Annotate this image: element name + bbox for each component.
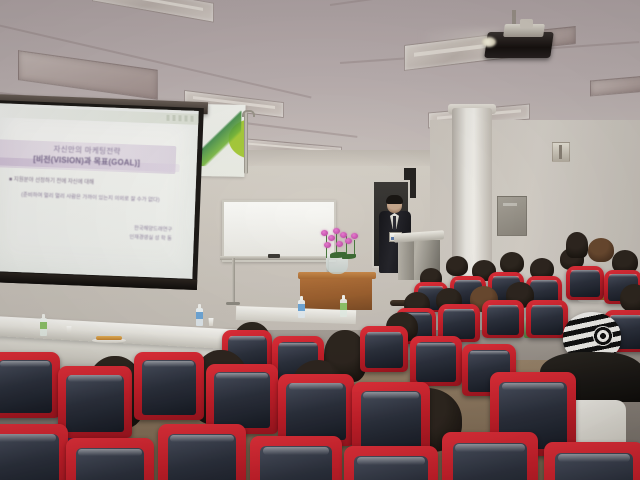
auditorium-seat[interactable] xyxy=(410,336,462,386)
slide-affiliation-line-2: 인재경영실 성 학 동 xyxy=(129,233,172,244)
food-item xyxy=(96,336,122,340)
water-bottle xyxy=(298,300,305,318)
projector-lens xyxy=(482,37,496,47)
orchid-bloom xyxy=(328,235,335,241)
slide-bullet-line: ■ 지원분야 선정하기 전에 자신에 대해 xyxy=(9,178,181,190)
audience-head xyxy=(566,232,588,258)
water-bottle xyxy=(196,308,203,326)
auditorium-seat[interactable] xyxy=(344,446,438,480)
auditorium-seat[interactable] xyxy=(0,352,60,418)
presenter-hair xyxy=(386,195,403,204)
orchid-bloom xyxy=(351,233,358,239)
wall-control-panel xyxy=(497,196,527,236)
orchid-bloom xyxy=(340,232,347,238)
auditorium-seat[interactable] xyxy=(250,436,342,480)
orchid-bloom xyxy=(321,230,328,236)
audience-head xyxy=(588,238,614,262)
slide-header-accent-icon xyxy=(166,115,196,122)
auditorium-seat[interactable] xyxy=(66,438,154,480)
side-table xyxy=(300,276,372,310)
water-bottle xyxy=(40,318,47,336)
ceiling-projector xyxy=(486,24,560,58)
auditorium-seat[interactable] xyxy=(566,266,604,300)
auditorium-seat[interactable] xyxy=(526,300,568,338)
slide-bullet-subline: (준비하여 멀리 멀리 사람은 가까이 있는지 의외로 잘 수가 없다) xyxy=(0,189,182,204)
orchid-bloom xyxy=(324,242,331,248)
slide-header-bar xyxy=(0,106,199,125)
auditorium-seat[interactable] xyxy=(158,424,246,480)
banner-hook-icon xyxy=(242,110,255,117)
banner-pole xyxy=(244,112,248,174)
auditorium-seat[interactable] xyxy=(360,326,408,372)
presenter-tie xyxy=(393,216,396,230)
slide-affiliation: 한국해양드래연구 인재경영실 성 학 동 xyxy=(129,224,172,244)
lecture-hall-photo: 수회 구전탁토론 금 한명경학교 자신만의 마케팅전략 [비전(VISION)과… xyxy=(0,0,640,480)
orchid-bloom xyxy=(333,228,340,234)
auditorium-seat[interactable] xyxy=(442,432,538,480)
orchid-leaf xyxy=(342,254,356,259)
slide-title-band: 자신만의 마케팅전략 [비전(VISION)과 목표(GOAL)] xyxy=(0,139,176,174)
ceiling-vent xyxy=(590,75,640,96)
orchid-arrangement xyxy=(316,228,362,258)
audience-head xyxy=(446,256,468,276)
orchid-bloom xyxy=(345,238,352,244)
ceiling-light-fixture xyxy=(92,0,214,23)
orchid-bloom xyxy=(336,241,343,247)
whiteboard-foot xyxy=(226,302,240,305)
water-bottle xyxy=(340,299,347,317)
screen-surface: 자신만의 마케팅전략 [비전(VISION)과 목표(GOAL)] ■ 지원분야… xyxy=(0,103,199,279)
audience-head xyxy=(620,284,640,312)
auditorium-seat[interactable] xyxy=(0,424,68,480)
auditorium-seat[interactable] xyxy=(58,366,132,438)
auditorium-seat[interactable] xyxy=(482,300,524,338)
whiteboard-leg xyxy=(232,258,235,304)
projection-screen: 자신만의 마케팅전략 [비전(VISION)과 목표(GOAL)] ■ 지원분야… xyxy=(0,100,204,298)
audience-head xyxy=(500,252,524,274)
auditorium-seat[interactable] xyxy=(134,352,204,420)
auditorium-seat[interactable] xyxy=(544,442,640,480)
wall-speaker-icon xyxy=(552,142,570,162)
